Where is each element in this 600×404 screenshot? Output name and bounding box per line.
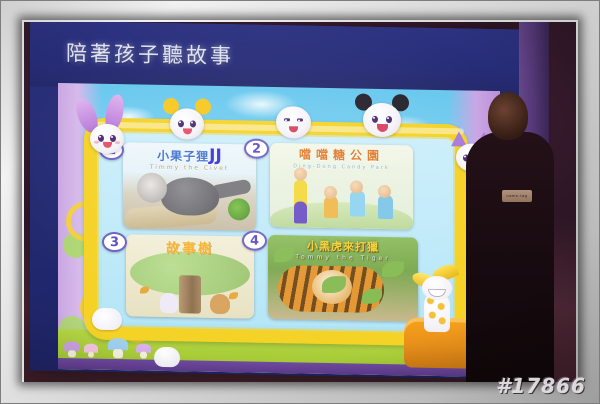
story-1-title-block: 小果子狸JJ Timmy the Civet [123,144,256,172]
photographed-scene: 陪著孩子聽故事 [24,22,576,382]
story-2-title-cn: 噹噹糖公園 [299,147,384,163]
adult-head [294,167,307,180]
mushroom-stem [140,352,147,359]
mascot-rabbit [90,124,124,155]
child-figure [324,196,338,218]
story-badge-2[interactable]: 2 [244,138,269,158]
child-figure [350,190,365,216]
photo-frame: 陪著孩子聽故事 [0,0,600,404]
falling-leaf [229,292,238,299]
rabbit-face [90,124,124,155]
adult-legs [294,201,307,223]
presenter-silhouette: name-tag [462,74,558,382]
rabbit-cheek [115,141,120,144]
kitty-character [92,308,122,331]
jungle-leaf [382,261,404,277]
panda-eye-right [386,116,392,123]
mushroom [64,341,80,357]
child-figure [378,195,393,219]
mushroom-stem [88,351,95,357]
panda-face [363,103,401,138]
panda-eye-left [372,116,378,123]
mushroom [108,338,128,358]
child-head [324,186,337,199]
story-4-title-cn: 小黑虎來打獵 [307,240,379,254]
child-head [378,185,391,198]
story-1-subtitle: Timmy the Civet [123,163,256,172]
story-1-title-cn: 小果子狸 [157,149,209,164]
story-1-title-en: JJ [209,146,222,166]
mushroom [84,343,98,357]
sheep-eye-left [284,118,290,121]
mascot-tiger [170,108,204,140]
tiger-eye-right [190,120,196,127]
bush-illustration [228,198,250,220]
jungle-leaf [274,247,294,262]
sheep-face [276,106,311,139]
child-head [350,180,363,193]
presenter-head [488,92,528,140]
tree-trunk [179,275,201,313]
rabbit-cheek [94,141,99,144]
rabbit-eye-left [98,135,104,142]
story-badge-4[interactable]: 4 [242,230,267,250]
storybook-artwork: 小果子狸JJ Timmy the Civet 噹噹糖公園 Ding-Dong C… [58,83,500,377]
mushroom-stem [68,350,76,357]
story-2-subtitle: Ding-Dong Candy Park [270,163,413,172]
presenter-name-tag: name-tag [502,190,532,202]
story-thumbnail-2[interactable]: 噹噹糖公園 Ding-Dong Candy Park [270,143,413,230]
kitty-character [154,347,180,367]
mushroom-stem [113,349,123,358]
page-title: 陪著孩子聽故事 [66,37,234,70]
story-badge-3[interactable]: 3 [102,232,127,252]
tiger-face [170,108,204,140]
presenter-name-tag-label: name-tag [502,190,532,202]
mascot-sheep [276,106,311,139]
story-thumbnail-3[interactable]: 故事樹 [126,234,254,318]
mascot-giraffe [420,276,454,329]
watermark: #17866 [497,374,587,398]
projection-screen: 陪著孩子聽故事 [30,22,520,379]
tiger-eye-left [178,120,184,127]
falling-leaf [140,287,149,294]
bunny-character [160,293,178,313]
mushroom [136,343,151,358]
civet-face [137,172,167,203]
sheep-eye-right [297,118,303,121]
story-2-title-block: 噹噹糖公園 Ding-Dong Candy Park [270,145,413,172]
story-thumbnail-1[interactable]: 小果子狸JJ Timmy the Civet [123,142,256,230]
presenter-body [466,132,554,382]
civet-body [161,177,219,216]
mascot-panda [363,103,401,138]
story-thumbnail-4[interactable]: 小黑虎來打獵 Tommy the Tiger [268,235,418,322]
squirrel-character [210,294,230,314]
